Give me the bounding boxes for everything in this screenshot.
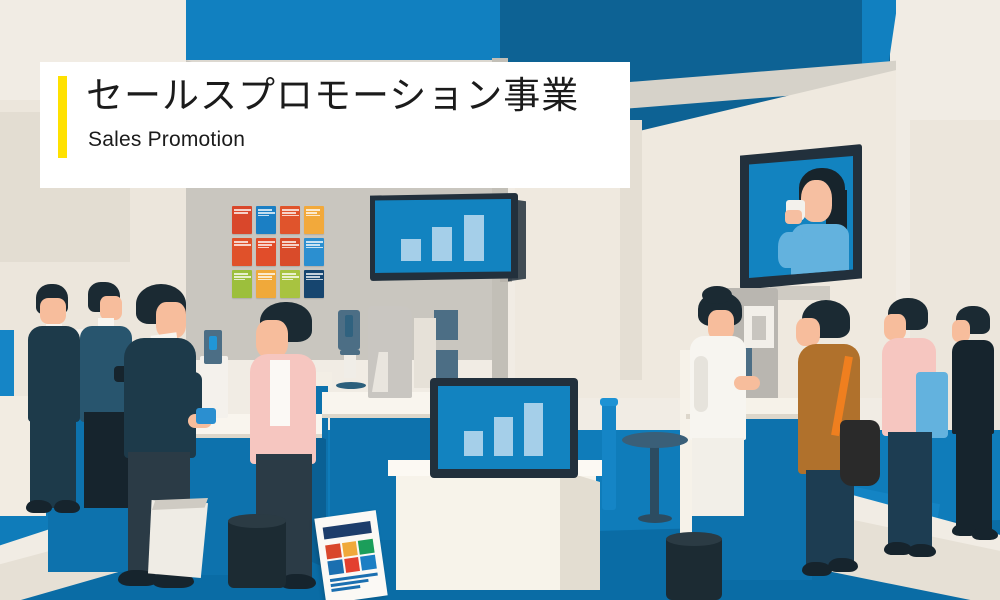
queue-bollard-cap [600,398,618,406]
poster-text-line [234,279,245,281]
poster-text-line [258,247,269,249]
poster-text-line [234,244,251,246]
wall-block-a [434,310,458,340]
bar-chart-bar [464,431,483,456]
bar-chart-bar [464,215,484,262]
floor-pedestal-white [148,500,208,578]
poster-text-line [258,215,269,217]
leaflet-swatch [325,543,341,559]
wall-mounted-display-bar-chart [370,193,518,281]
beverage-dispenser-unit-2 [336,310,366,396]
sleeve-left [694,356,708,412]
shoe-right [972,528,998,540]
leaflet-swatch [327,559,343,575]
dispenser-nozzle [340,350,360,355]
title-accent-bar [58,76,67,158]
bar-chart-bar [494,417,513,456]
person-visitor-3 [796,300,882,590]
product-leaflet [314,510,387,600]
waste-bin-left-rim [228,514,286,528]
poster-card [280,206,300,234]
face [952,320,970,342]
tablet-display-bar-chart [430,378,578,478]
poster-text-line [234,276,251,278]
wall-block-b [434,350,458,378]
shoulder-bag [840,420,880,486]
poster-card [280,238,300,266]
poster-grid [232,206,324,298]
poster-text-line [258,244,272,246]
poster-text-line [306,279,323,281]
bar-stool-seat [622,432,688,448]
dispenser-tray [336,382,366,389]
screen-content-bar-chart [375,199,511,273]
poster-text-line [282,273,296,275]
poster-text-line [306,241,323,243]
bar-chart-bar [524,403,543,455]
poster-text-line [258,273,275,275]
leaflet-swatch [344,557,360,573]
illustration-canvas: セールスプロモーション事業 Sales Promotion [0,0,1000,600]
poster-text-line [306,247,323,249]
poster-card [232,238,252,266]
page-title-japanese: セールスプロモーション事業 [86,76,616,116]
poster-text-line [258,209,272,211]
poster-text-line [234,209,251,211]
leaflet-header-bar [323,521,372,540]
person-visitor-4 [882,298,952,590]
poster-text-line [258,241,275,243]
poster-card [304,206,324,234]
poster-card [304,270,324,298]
poster-card [280,270,300,298]
bar-stool-post [650,444,659,520]
leaflet-swatch [358,539,374,555]
poster-card [256,238,276,266]
center-plinth-side [560,470,600,590]
face [256,320,288,358]
suit-jacket [28,326,80,422]
shoe-right [828,558,858,572]
waste-bin-right [666,538,722,600]
leaflet-swatch [360,555,376,571]
bar-chart [438,386,570,469]
poster-text-line [234,212,248,214]
bar-chart-bar [432,227,452,261]
dispenser-neck [344,352,356,378]
trousers [30,412,76,508]
poster-text-line [282,209,299,211]
dispenser-window [345,315,353,337]
video-hand [785,210,802,225]
queue-bollard [602,400,616,510]
poster-text-line [282,244,299,246]
hand [734,376,760,390]
tv-content-woman-drinking [749,156,853,278]
waste-bin-right-rim [666,532,722,546]
poster-text-line [258,212,275,214]
video-person-arm [778,232,803,269]
wall-tv-product-video [740,144,862,290]
poster-text-line [282,215,299,217]
poster-card [232,206,252,234]
face [796,318,820,346]
held-product-cup [196,408,216,424]
tablet-content-bar-chart [438,386,570,469]
leaflet-swatch [342,541,358,557]
poster-card [256,270,276,298]
page-title-english: Sales Promotion [88,128,488,152]
poster-text-line [234,241,248,243]
waste-bin-left [228,520,286,588]
poster-text-line [234,273,248,275]
shoe-left [26,500,52,513]
video-person-face [801,180,832,221]
leaflet-text-lines [330,572,380,594]
bar-stool-foot [638,514,672,523]
poster-text-line [282,279,293,281]
video-person [749,156,853,278]
poster-text-line [282,247,296,249]
poster-text-line [306,244,320,246]
leaflet-swatch-grid [325,539,377,575]
poster-text-line [306,215,320,217]
bar-chart-bar [401,239,421,261]
person-staff-3 [688,292,756,522]
uniform-skirt [692,438,744,516]
poster-text-line [282,212,296,214]
poster-card [304,238,324,266]
poster-text-line [258,279,272,281]
bar-chart [375,199,511,273]
poster-text-line [258,276,272,278]
suit-jacket [952,340,994,434]
poster-text-line [282,276,299,278]
person-visitor-5 [952,306,1000,576]
face [884,314,906,340]
poster-card [232,270,252,298]
poster-text-line [282,241,296,243]
poster-text-line [306,273,323,275]
poster-text-line [306,276,320,278]
shoe-right [908,544,936,557]
shirt-front [270,360,290,426]
poster-card [256,206,276,234]
tote-bag [916,372,948,438]
poster-text-line [306,209,320,211]
poster-text-line [306,212,317,214]
trousers [888,432,932,550]
trousers [956,430,992,532]
hair-bun [702,286,732,304]
